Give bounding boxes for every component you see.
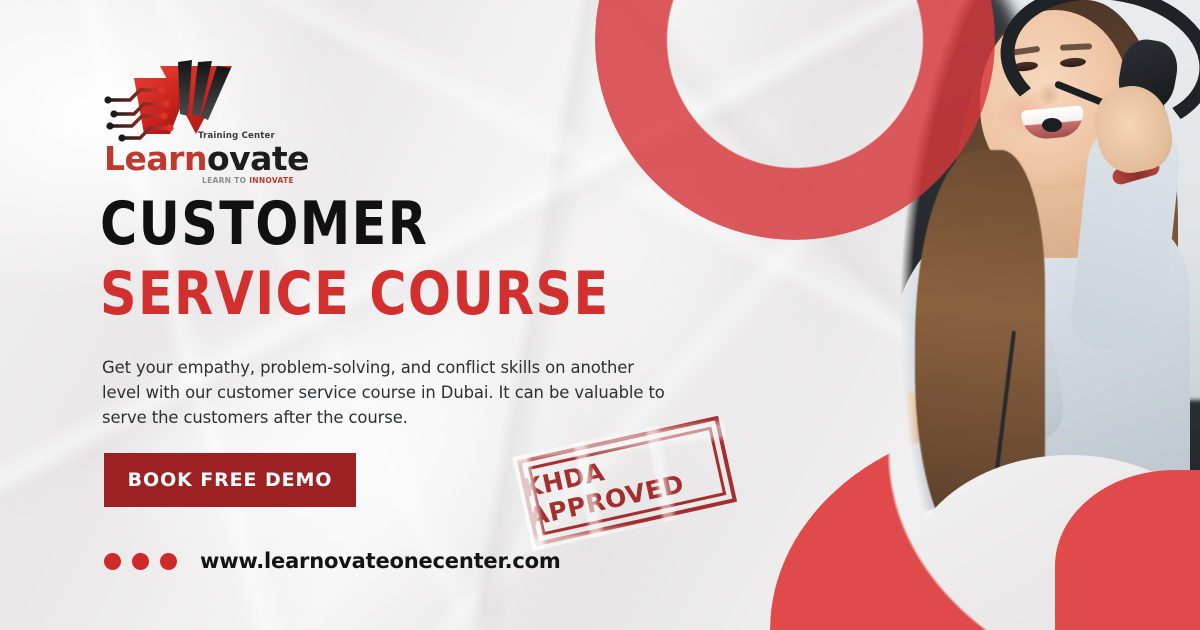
description-text: Get your empathy, problem-solving, and c… — [102, 356, 674, 431]
dot-icon-2 — [132, 553, 149, 570]
dot-icon-3 — [160, 553, 177, 570]
logo-word-ovate: ovate — [207, 139, 309, 178]
website-url[interactable]: www.learnovateonecenter.com — [200, 549, 561, 573]
headset-mic-icon — [1042, 118, 1062, 132]
dot-icon-1 — [104, 553, 121, 570]
footer-website[interactable]: www.learnovateonecenter.com — [104, 546, 561, 576]
logo-wordmark: Training Center Learnovate LEARN TO INNO… — [104, 142, 354, 188]
headline-line-1: CUSTOMER — [100, 196, 626, 254]
logo-tagline-bottom-b: INNOVATE — [249, 176, 294, 185]
logo-tagline-bottom: LEARN TO INNOVATE — [202, 176, 294, 185]
book-free-demo-button[interactable]: BOOK FREE DEMO — [104, 453, 356, 507]
logo-word-learn: Learn — [104, 139, 207, 178]
page-title: CUSTOMER SERVICE COURSE — [100, 196, 660, 323]
logo-tagline-top: Training Center — [198, 131, 275, 141]
brand-logo[interactable]: Training Center Learnovate LEARN TO INNO… — [100, 58, 350, 188]
promo-banner: Training Center Learnovate LEARN TO INNO… — [0, 0, 1200, 630]
logo-tagline-bottom-a: LEARN TO — [202, 176, 249, 185]
headline-line-2: SERVICE COURSE — [100, 266, 626, 324]
